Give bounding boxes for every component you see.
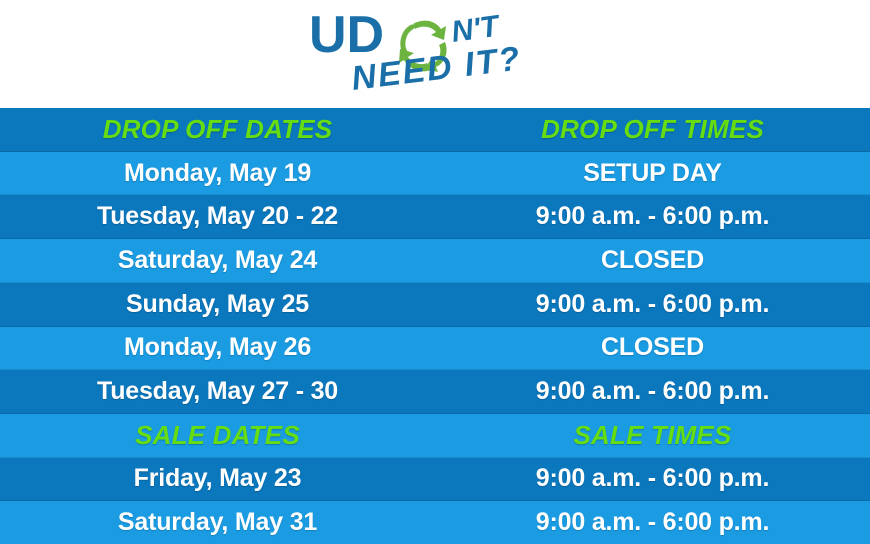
logo-banner: UD N'T NEED IT? [0, 0, 870, 108]
schedule-time-cell: SETUP DAY [435, 159, 870, 188]
schedule-row: Saturday, May 24CLOSED [0, 239, 870, 283]
schedule-row: Tuesday, May 20 - 229:00 a.m. - 6:00 p.m… [0, 195, 870, 239]
schedule-date-cell: Saturday, May 24 [0, 246, 435, 275]
schedule-row: Sunday, May 259:00 a.m. - 6:00 p.m. [0, 283, 870, 327]
schedule-date-cell: Monday, May 26 [0, 333, 435, 362]
schedule-time-cell: 9:00 a.m. - 6:00 p.m. [435, 464, 870, 493]
logo-artwork: UD N'T NEED IT? [305, 4, 565, 104]
section-header-times: SALE TIMES [435, 420, 870, 451]
schedule-time-cell: CLOSED [435, 333, 870, 362]
schedule-time-cell: 9:00 a.m. - 6:00 p.m. [435, 508, 870, 537]
section-header-row: SALE DATESSALE TIMES [0, 414, 870, 458]
schedule-time-cell: 9:00 a.m. - 6:00 p.m. [435, 290, 870, 319]
udont-need-it-logo: UD N'T NEED IT? [305, 4, 565, 104]
schedule-date-cell: Sunday, May 25 [0, 290, 435, 319]
schedule-row: Saturday, May 319:00 a.m. - 6:00 p.m. [0, 501, 870, 544]
schedule-row: Friday, May 239:00 a.m. - 6:00 p.m. [0, 458, 870, 502]
logo-ud-text: UD [309, 6, 384, 64]
schedule-poster: UD N'T NEED IT? DROP OFF DA [0, 0, 870, 544]
schedule-row: Tuesday, May 27 - 309:00 a.m. - 6:00 p.m… [0, 370, 870, 414]
section-header-row: DROP OFF DATESDROP OFF TIMES [0, 108, 870, 152]
schedule-date-cell: Tuesday, May 20 - 22 [0, 202, 435, 231]
schedule-time-cell: 9:00 a.m. - 6:00 p.m. [435, 377, 870, 406]
schedule-date-cell: Monday, May 19 [0, 159, 435, 188]
section-header-dates: SALE DATES [0, 420, 435, 451]
schedule-row: Monday, May 19SETUP DAY [0, 152, 870, 196]
schedule-date-cell: Saturday, May 31 [0, 508, 435, 537]
schedule-date-cell: Tuesday, May 27 - 30 [0, 377, 435, 406]
schedule-time-cell: CLOSED [435, 246, 870, 275]
schedule-time-cell: 9:00 a.m. - 6:00 p.m. [435, 202, 870, 231]
schedule-row: Monday, May 26CLOSED [0, 327, 870, 371]
section-header-times: DROP OFF TIMES [435, 114, 870, 145]
section-header-dates: DROP OFF DATES [0, 114, 435, 145]
schedule-table: DROP OFF DATESDROP OFF TIMESMonday, May … [0, 108, 870, 544]
schedule-date-cell: Friday, May 23 [0, 464, 435, 493]
